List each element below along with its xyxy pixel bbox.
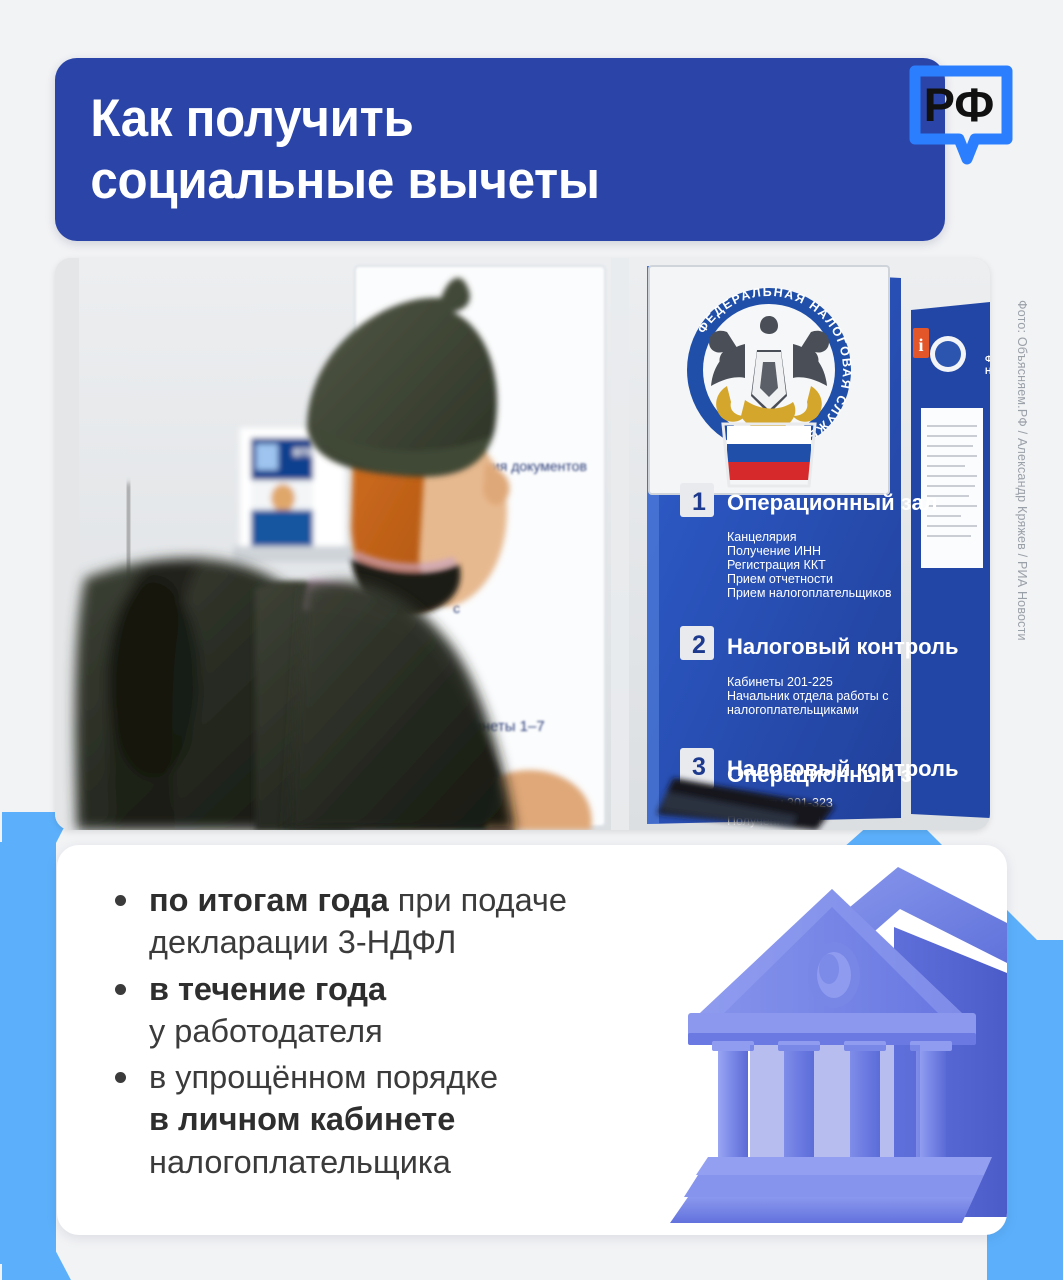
svg-text:1: 1 bbox=[692, 488, 706, 516]
svg-text:Прием отчетности: Прием отчетности bbox=[727, 572, 833, 586]
svg-text:Кабинеты 201-225: Кабинеты 201-225 bbox=[727, 675, 833, 689]
bullet-line1-3: в упрощённом порядке bbox=[149, 1056, 1007, 1098]
svg-text:ФЕДЕРАЛЬНАЯ: ФЕДЕРАЛЬНАЯ bbox=[985, 354, 990, 364]
list-item: в течение года у работодателя bbox=[109, 968, 1007, 1053]
svg-text:Начальник отдела работы с: Начальник отдела работы с bbox=[727, 689, 889, 703]
svg-text:Операционный зал: Операционный зал bbox=[727, 490, 938, 515]
bullet-rest-1: при подаче bbox=[389, 882, 567, 918]
infographic-root: Как получить социальные вычеты РФ bbox=[0, 0, 1063, 1280]
svg-text:Получение ИНН: Получение ИНН bbox=[727, 544, 821, 558]
svg-text:Прием налогоплательщиков: Прием налогоплательщиков bbox=[727, 586, 892, 600]
bullet-bold-3: в личном кабинете bbox=[149, 1101, 455, 1137]
svg-text:РФ: РФ bbox=[924, 78, 995, 131]
svg-text:налогоплательщиками: налогоплательщиками bbox=[727, 703, 859, 717]
bullet-bold-1: по итогам года bbox=[149, 882, 389, 918]
bullet-bold-2: в течение года bbox=[149, 971, 386, 1007]
svg-text:2: 2 bbox=[692, 631, 706, 659]
photo-credit: Фото: Объясняем.РФ / Александр Кряжев / … bbox=[1015, 300, 1029, 820]
svg-text:НАЛОГОВАЯ СЛУЖБА: НАЛОГОВАЯ СЛУЖБА bbox=[985, 366, 990, 376]
title-card: Как получить социальные вычеты bbox=[55, 58, 945, 241]
bullet-line3-3: налогоплательщика bbox=[149, 1141, 1007, 1183]
bullet-list: по итогам года при подаче декларации 3-Н… bbox=[57, 845, 1007, 1183]
speech-bubble-rf-logo: РФ bbox=[905, 63, 1017, 171]
svg-text:Налоговый контроль: Налоговый контроль bbox=[727, 756, 959, 781]
svg-text:3: 3 bbox=[692, 753, 706, 781]
list-item: в упрощённом порядке в личном кабинете н… bbox=[109, 1056, 1007, 1183]
svg-text:Налоговый контроль: Налоговый контроль bbox=[727, 634, 959, 659]
svg-text:Регистрация ККТ: Регистрация ККТ bbox=[727, 558, 826, 572]
info-card: по итогам года при подаче декларации 3-Н… bbox=[57, 845, 1007, 1235]
list-item: по итогам года при подаче декларации 3-Н… bbox=[109, 879, 1007, 964]
svg-text:ВТБ: ВТБ bbox=[293, 447, 315, 459]
svg-text:i: i bbox=[918, 335, 923, 355]
bullet-line2-2: у работодателя bbox=[149, 1010, 1007, 1052]
bullet-line2-1: декларации 3-НДФЛ bbox=[149, 921, 1007, 963]
svg-text:Канцелярия: Канцелярия bbox=[727, 530, 796, 544]
page-title: Как получить социальные вычеты bbox=[55, 88, 635, 211]
hero-photo: зал олнения документов Т НН с 2 кабинеты… bbox=[55, 258, 990, 830]
